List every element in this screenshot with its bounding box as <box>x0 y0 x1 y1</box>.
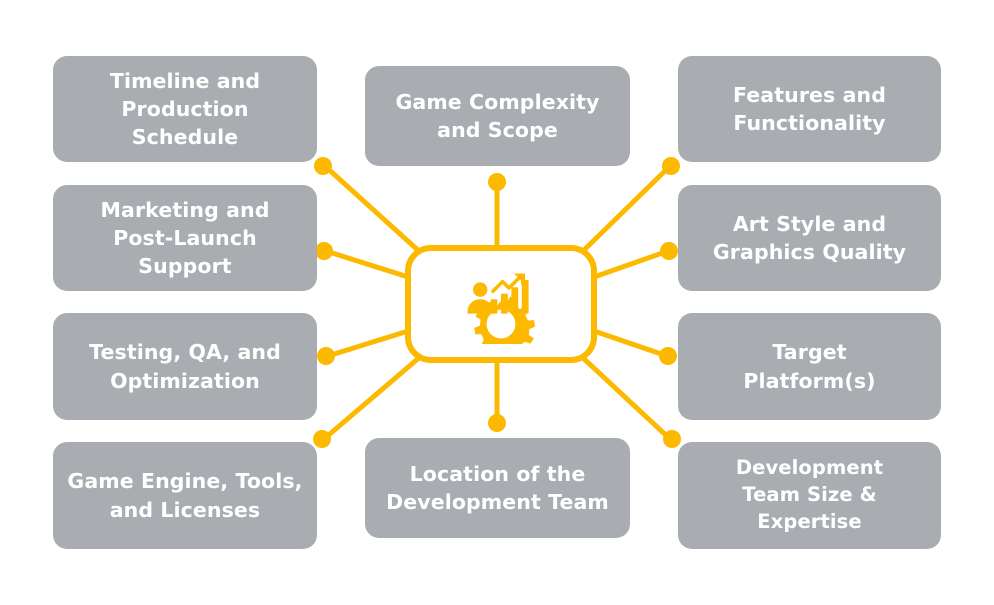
connector-testing <box>328 332 405 356</box>
node-target-platform-label: Target Platform(s) <box>690 338 929 395</box>
node-team-size-label: Development Team Size & Expertise <box>690 455 929 536</box>
connector-dot-features <box>662 157 680 175</box>
node-team-size[interactable]: Development Team Size & Expertise <box>678 442 941 549</box>
connector-dot-artstyle <box>660 242 678 260</box>
node-game-engine-label: Game Engine, Tools, and Licenses <box>65 467 305 524</box>
connector-dot-teamsize <box>663 430 681 448</box>
connector-dot-location <box>488 414 506 432</box>
connector-dot-timeline <box>314 157 332 175</box>
connector-dot-engine <box>313 430 331 448</box>
node-marketing-label: Marketing and Post-Launch Support <box>65 196 305 281</box>
node-features[interactable]: Features and Functionality <box>678 56 941 162</box>
node-game-complexity[interactable]: Game Complexity and Scope <box>365 66 630 166</box>
node-testing[interactable]: Testing, QA, and Optimization <box>53 313 317 420</box>
node-target-platform[interactable]: Target Platform(s) <box>678 313 941 420</box>
connector-artstyle <box>597 251 668 276</box>
node-timeline[interactable]: Timeline and Production Schedule <box>53 56 317 162</box>
node-team-location[interactable]: Location of the Development Team <box>365 438 630 538</box>
diagram-canvas: Timeline and Production Schedule Marketi… <box>0 0 994 605</box>
connector-teamsize <box>582 357 670 439</box>
node-features-label: Features and Functionality <box>690 81 929 138</box>
node-game-complexity-label: Game Complexity and Scope <box>377 88 618 145</box>
connector-dot-platform <box>659 347 677 365</box>
node-testing-label: Testing, QA, and Optimization <box>65 338 305 395</box>
business-analytics-gear-icon <box>461 264 541 344</box>
connector-dot-complexity <box>488 173 506 191</box>
connector-platform <box>597 332 667 356</box>
connector-features <box>582 167 669 252</box>
node-team-location-label: Location of the Development Team <box>377 460 618 517</box>
node-marketing[interactable]: Marketing and Post-Launch Support <box>53 185 317 291</box>
node-art-style-label: Art Style and Graphics Quality <box>690 210 929 267</box>
connector-timeline <box>326 167 420 252</box>
node-game-engine[interactable]: Game Engine, Tools, and Licenses <box>53 442 317 549</box>
connector-engine <box>324 357 420 439</box>
connector-dot-testing <box>317 347 335 365</box>
connector-dot-marketing <box>315 242 333 260</box>
connector-marketing <box>326 251 405 276</box>
hub-center[interactable] <box>405 245 597 363</box>
node-art-style[interactable]: Art Style and Graphics Quality <box>678 185 941 291</box>
node-timeline-label: Timeline and Production Schedule <box>65 67 305 152</box>
